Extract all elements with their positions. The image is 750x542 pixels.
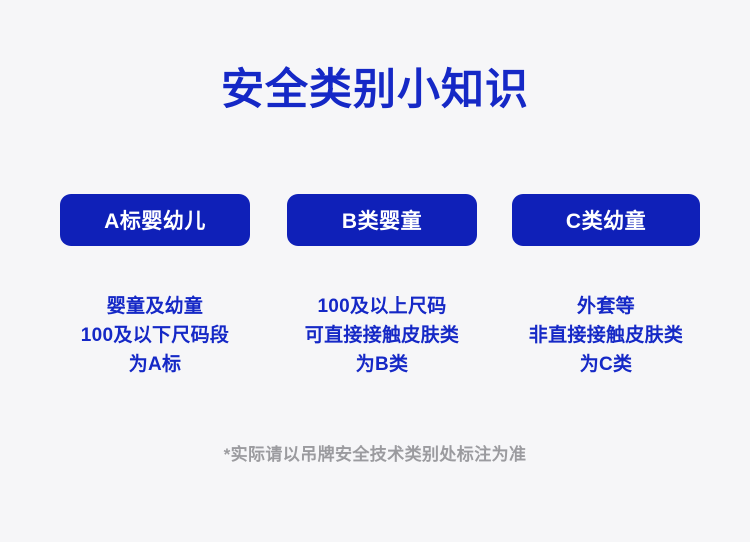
category-description-b-line-1: 100及以上尺码 [272, 292, 492, 321]
category-badge-a: A标婴幼儿 [60, 194, 250, 246]
category-description-a: 婴童及幼童 100及以下尺码段 为A标 [35, 292, 275, 379]
category-description-c-line-3: 为C类 [495, 350, 717, 379]
category-badge-c-label: C类幼童 [566, 205, 646, 235]
safety-category-infographic: 安全类别小知识 A标婴幼儿 B类婴童 C类幼童 婴童及幼童 100及以下尺码段 … [0, 0, 750, 542]
category-badge-a-label: A标婴幼儿 [104, 205, 206, 235]
category-description-c-line-2: 非直接接触皮肤类 [495, 321, 717, 350]
category-description-b-line-2: 可直接接触皮肤类 [272, 321, 492, 350]
category-description-row: 婴童及幼童 100及以下尺码段 为A标 100及以上尺码 可直接接触皮肤类 为B… [0, 292, 750, 382]
category-description-b: 100及以上尺码 可直接接触皮肤类 为B类 [272, 292, 492, 379]
category-badge-b: B类婴童 [287, 194, 477, 246]
category-badge-row: A标婴幼儿 B类婴童 C类幼童 [0, 194, 750, 246]
category-badge-c: C类幼童 [512, 194, 700, 246]
category-description-a-line-1: 婴童及幼童 [35, 292, 275, 321]
category-description-b-line-3: 为B类 [272, 350, 492, 379]
page-title: 安全类别小知识 [0, 64, 750, 116]
category-description-c: 外套等 非直接接触皮肤类 为C类 [495, 292, 717, 379]
category-badge-b-label: B类婴童 [342, 205, 422, 235]
category-description-c-line-1: 外套等 [495, 292, 717, 321]
category-description-a-line-2: 100及以下尺码段 [35, 321, 275, 350]
category-description-a-line-3: 为A标 [35, 350, 275, 379]
footnote-disclaimer: *实际请以吊牌安全技术类别处标注为准 [0, 443, 750, 467]
